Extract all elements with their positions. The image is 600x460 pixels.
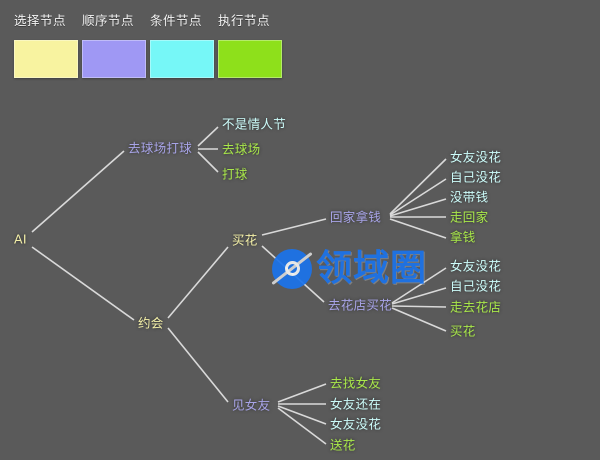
legend-item-label: 条件节点 bbox=[150, 14, 214, 28]
tree-link-jny-qzny bbox=[278, 384, 326, 402]
tree-node-zhj[interactable]: 走回家 bbox=[450, 211, 488, 224]
tree-node-sh[interactable]: 送花 bbox=[330, 439, 356, 452]
tree-link-qhdmh-zjmh2 bbox=[392, 288, 446, 304]
tree-link-qhdmh-nymh2 bbox=[392, 268, 446, 303]
tree-node-qzny[interactable]: 去找女友 bbox=[330, 377, 381, 390]
tree-link-mh-hjnq bbox=[262, 219, 326, 235]
tree-link-qqcdq-bsqrj bbox=[198, 127, 218, 146]
tree-link-qqcdq-dq bbox=[198, 152, 218, 172]
legend: 选择节点顺序节点条件节点执行节点 bbox=[0, 0, 600, 95]
legend-item-label: 执行节点 bbox=[218, 14, 282, 28]
behavior-tree-canvas: 选择节点顺序节点条件节点执行节点 AI去球场打球不是情人节去球场打球约会买花回家… bbox=[0, 0, 600, 460]
tree-link-ai-qqcdq bbox=[32, 151, 124, 232]
tree-node-yh[interactable]: 约会 bbox=[138, 317, 164, 330]
tree-node-nyhz[interactable]: 女友还在 bbox=[330, 398, 381, 411]
tree-link-hjnq-nymh1 bbox=[390, 159, 446, 214]
tree-node-qhdmh[interactable]: 去花店买花 bbox=[328, 299, 392, 312]
legend-item-swatch bbox=[14, 40, 78, 78]
tree-node-nymh2[interactable]: 女友没花 bbox=[450, 260, 501, 273]
tree-node-zjmh2[interactable]: 自己没花 bbox=[450, 280, 501, 293]
tree-node-bsqrj[interactable]: 不是情人节 bbox=[222, 118, 286, 131]
tree-link-hjnq-zjmh1 bbox=[390, 179, 446, 215]
tree-node-hjnq[interactable]: 回家拿钱 bbox=[330, 211, 381, 224]
tree-link-hjnq-nq bbox=[390, 219, 446, 238]
tree-node-zjmh1[interactable]: 自己没花 bbox=[450, 171, 501, 184]
tree-link-mh-qhdmh bbox=[262, 246, 324, 302]
tree-link-qhdmh-zqhd bbox=[392, 306, 446, 307]
legend-item-label: 选择节点 bbox=[14, 14, 78, 28]
tree-node-mdq[interactable]: 没带钱 bbox=[450, 191, 488, 204]
tree-node-nymh1[interactable]: 女友没花 bbox=[450, 151, 501, 164]
tree-node-mh2[interactable]: 买花 bbox=[450, 325, 476, 338]
tree-node-qqc[interactable]: 去球场 bbox=[222, 143, 260, 156]
tree-node-nq[interactable]: 拿钱 bbox=[450, 231, 476, 244]
tree-link-yh-mh bbox=[168, 247, 228, 318]
legend-item-3: 执行节点 bbox=[218, 14, 282, 78]
tree-link-jny-sh bbox=[278, 408, 326, 444]
legend-item-label: 顺序节点 bbox=[82, 14, 146, 28]
legend-item-1: 顺序节点 bbox=[82, 14, 146, 78]
watermark-text: 领域圈 bbox=[316, 249, 427, 289]
watermark: 领域圈 bbox=[272, 249, 427, 289]
legend-item-2: 条件节点 bbox=[150, 14, 214, 78]
tree-link-jny-nymh3 bbox=[278, 406, 326, 424]
legend-item-0: 选择节点 bbox=[14, 14, 78, 78]
tree-link-yh-jny bbox=[168, 328, 228, 402]
tree-link-ai-yh bbox=[32, 247, 134, 320]
legend-item-swatch bbox=[82, 40, 146, 78]
tree-node-nymh3[interactable]: 女友没花 bbox=[330, 418, 381, 431]
legend-item-swatch bbox=[218, 40, 282, 78]
tree-node-dq[interactable]: 打球 bbox=[222, 168, 248, 181]
watermark-logo-icon bbox=[272, 249, 312, 289]
tree-node-mh[interactable]: 买花 bbox=[232, 234, 258, 247]
tree-node-jny[interactable]: 见女友 bbox=[232, 399, 270, 412]
tree-node-zqhd[interactable]: 走去花店 bbox=[450, 301, 501, 314]
tree-link-hjnq-mdq bbox=[390, 199, 446, 216]
tree-node-qqcdq[interactable]: 去球场打球 bbox=[128, 142, 192, 155]
legend-item-swatch bbox=[150, 40, 214, 78]
tree-node-ai[interactable]: AI bbox=[14, 233, 27, 246]
tree-link-qhdmh-mh2 bbox=[392, 308, 446, 331]
